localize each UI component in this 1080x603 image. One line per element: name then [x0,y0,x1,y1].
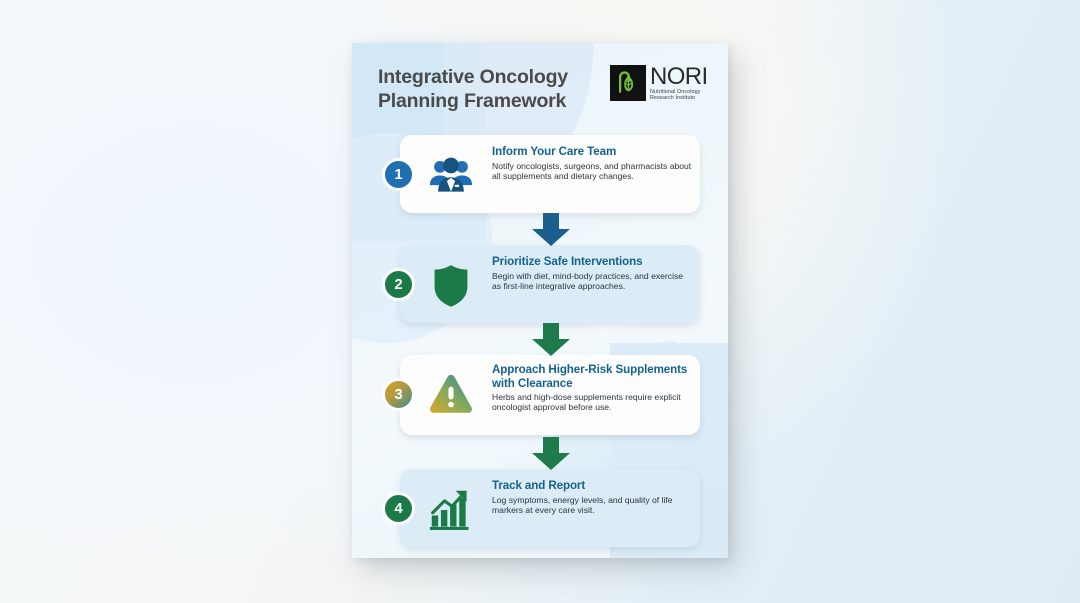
step-title-4: Track and Report [492,479,692,493]
step-item-2[interactable]: 2 Prioritize Safe Interventions Begin wi… [352,245,728,329]
step-title-2: Prioritize Safe Interventions [492,255,692,269]
leaf-icon [610,65,646,101]
step-badge-1: 1 [382,158,415,191]
shield-icon [426,261,476,311]
bar-chart-growth-icon [426,485,476,535]
down-arrow-icon [530,437,572,471]
page-title-line-2: Planning Framework [378,89,604,113]
leaf-icon-glyph [614,69,642,97]
canvas: Integrative Oncology Planning Framework … [0,0,1080,603]
down-arrow-icon [530,323,572,357]
page-title: Integrative Oncology Planning Framework [378,65,604,113]
step-text-1: Inform Your Care Team Notify oncologists… [492,145,692,181]
step-item-1[interactable]: 1 Inform Your Care Team Not [352,135,728,219]
arrow-step-3-to-4 [530,437,572,471]
down-arrow-icon [530,213,572,247]
nori-logo-subtitle: Nutritional Oncology Research Institute [650,89,728,102]
warning-triangle-icon-glyph [428,373,474,415]
warning-triangle-icon [426,369,476,419]
step-text-3: Approach Higher-Risk Supplements with Cl… [492,363,692,413]
step-text-4: Track and Report Log symptoms, energy le… [492,479,692,515]
nori-logo: NORI Nutritional Oncology Research Insti… [610,65,728,102]
people-group-icon [426,151,476,201]
step-description-2: Begin with diet, mind-body practices, an… [492,271,692,292]
step-badge-3: 3 [382,378,415,411]
step-item-3[interactable]: 3 [352,355,728,443]
step-item-4[interactable]: 4 Track and Report Log symptoms, energy [352,469,728,553]
step-title-3: Approach Higher-Risk Supplements with Cl… [492,363,692,390]
step-badge-4: 4 [382,492,415,525]
people-group-icon-glyph [427,154,475,198]
shield-icon-glyph [432,264,470,308]
step-description-4: Log symptoms, energy levels, and quality… [492,495,692,516]
step-description-3: Herbs and high-dose supplements require … [492,392,692,413]
infographic-poster: Integrative Oncology Planning Framework … [352,43,728,558]
step-description-1: Notify oncologists, surgeons, and pharma… [492,161,692,182]
nori-logo-name: NORI [650,65,728,88]
step-title-1: Inform Your Care Team [492,145,692,159]
arrow-step-1-to-2 [530,213,572,247]
nori-logo-text: NORI Nutritional Oncology Research Insti… [650,65,728,102]
step-text-2: Prioritize Safe Interventions Begin with… [492,255,692,291]
bar-chart-growth-icon-glyph [428,488,474,532]
arrow-step-2-to-3 [530,323,572,357]
nori-logo-subtitle-line-2: Research Institute [650,95,728,101]
page-title-line-1: Integrative Oncology [378,65,604,89]
steps-list: 1 Inform Your Care Team Not [352,135,728,553]
poster-header: Integrative Oncology Planning Framework … [352,43,728,143]
step-badge-2: 2 [382,268,415,301]
